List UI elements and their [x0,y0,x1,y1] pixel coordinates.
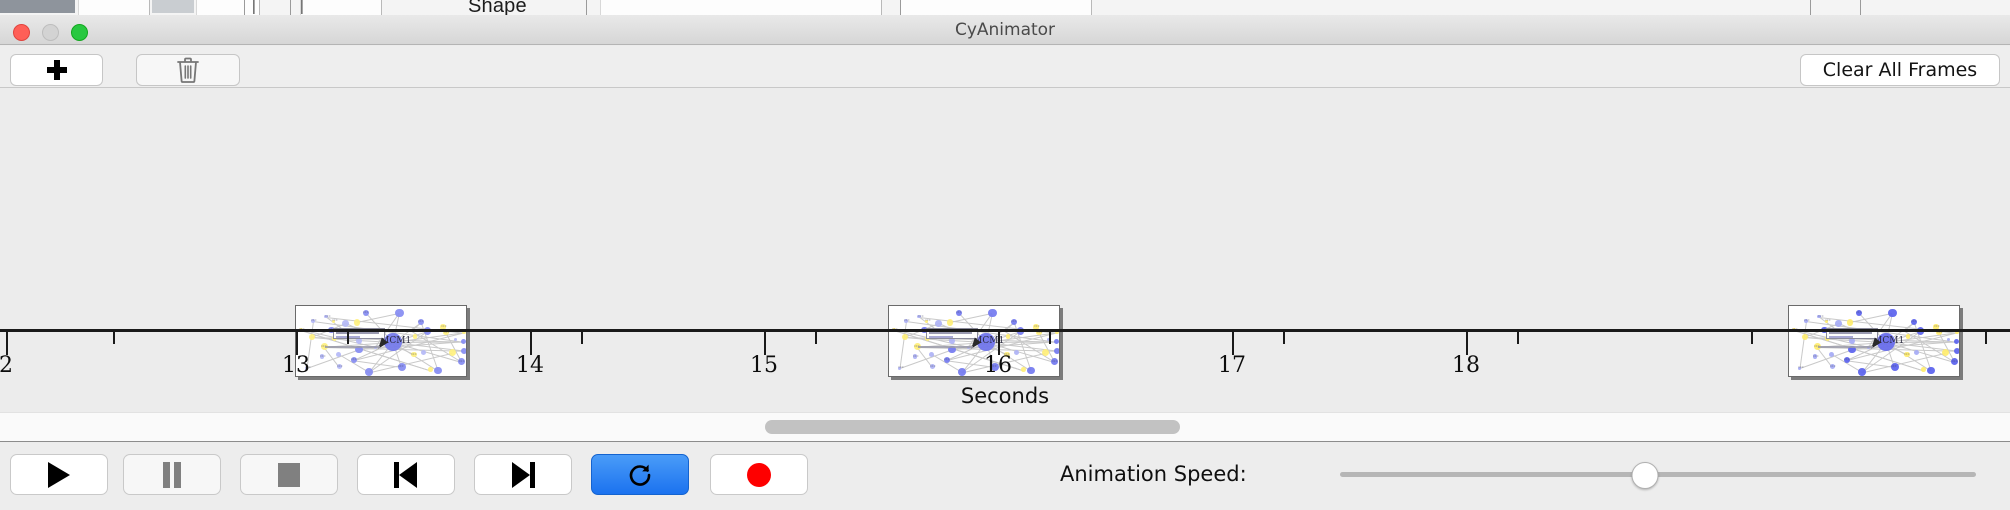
background-divider [1860,0,1861,15]
background-divider [900,0,901,15]
background-tab [196,0,260,15]
ruler-tick-minor [347,332,349,344]
ruler-tick-label: 17 [1218,353,1246,378]
title-bar: CyAnimator [0,15,2010,45]
network-node-label: ••• [1856,311,1862,315]
network-node [354,319,360,325]
animation-speed-label: Animation Speed: [1060,454,1247,495]
ruler-tick-label: 13 [282,353,310,378]
timeline-ruler: 2131415161718 Seconds [0,329,2010,411]
network-node [1835,320,1842,327]
timeline-panel[interactable]: ••••••••••••••••••••••••••••••••••••••••… [0,89,2010,411]
ruler-tick-major [764,332,766,355]
background-divider [1810,0,1811,15]
loop-icon [626,461,654,489]
background-divider [290,0,291,15]
ruler-tick-minor [1283,332,1285,344]
network-node-label: ••• [332,319,338,323]
background-gray-block [152,0,194,13]
network-node [947,319,953,325]
background-window-strip: | | Shape [0,0,2010,15]
ruler-tick-minor [815,332,817,344]
playback-controls: Animation Speed: [0,443,2010,510]
network-node [988,309,996,317]
network-node-label: ••• [1911,320,1917,324]
network-node-label: ••• [311,319,317,323]
ruler-tick-major [998,332,1000,355]
background-tab [600,0,882,15]
ruler-tick-label: 16 [984,353,1012,378]
network-node [1847,319,1853,325]
background-shape-label: Shape [468,0,527,15]
ruler-tick-minor [1985,332,1987,344]
play-icon [48,462,70,488]
plus-icon [47,60,67,80]
background-divider [244,0,245,15]
background-glyph: | [300,0,304,15]
background-divider [586,0,587,15]
axis-title: Seconds [0,384,2010,408]
skip-fwd-button[interactable] [474,454,572,495]
animation-speed-slider[interactable] [1340,454,1976,495]
ruler-baseline [0,329,2010,332]
record-icon [747,463,771,487]
skip-back-icon [394,462,418,488]
network-node [1888,309,1896,317]
network-node-label: ••• [1818,315,1824,319]
background-tab [900,0,1092,15]
ruler-tick-major [530,332,532,355]
play-button[interactable] [10,454,108,495]
network-node [342,320,349,327]
ruler-tick-minor [1049,332,1051,344]
background-tab [78,0,150,15]
network-node [395,309,403,317]
delete-frame-button[interactable] [136,54,240,86]
ruler-tick-major [1466,332,1468,355]
stop-button[interactable] [240,454,338,495]
background-glyph: | [252,0,256,15]
network-node-label: ••• [363,311,369,315]
ruler-tick-label: 14 [516,353,544,378]
network-node-label: ••• [325,315,331,319]
ruler-tick-minor [581,332,583,344]
cyanimator-window: | | Shape CyAnimator Clear All Frames ••… [0,0,2010,510]
pause-button[interactable] [123,454,221,495]
toolbar: Clear All Frames [0,46,2010,88]
pause-icon [161,462,183,488]
ruler-tick-minor [1751,332,1753,344]
skip-fwd-icon [511,462,535,488]
network-node-label: ••• [925,319,931,323]
record-button[interactable] [710,454,808,495]
network-node-label: ••• [1825,319,1831,323]
slider-thumb[interactable] [1632,462,1659,489]
network-node [935,320,942,327]
ruler-tick-major [6,332,8,355]
clear-all-frames-label: Clear All Frames [1823,59,1977,81]
ruler-tick-label: 2 [0,353,13,378]
network-node-label: ••• [918,315,924,319]
network-node-label: ••• [1804,319,1810,323]
ruler-tick-label: 18 [1452,353,1480,378]
stop-icon [278,463,300,487]
background-dark-block [0,0,75,13]
timeline-scrollbar-thumb[interactable] [765,420,1180,434]
ruler-tick-major [296,332,298,355]
background-tab [300,0,382,15]
clear-all-frames-button[interactable]: Clear All Frames [1800,54,2000,86]
skip-back-button[interactable] [357,454,455,495]
trash-icon [175,56,201,84]
ruler-tick-label: 15 [750,353,778,378]
window-title: CyAnimator [0,15,2010,45]
network-node-label: ••• [904,319,910,323]
timeline-scrollbar[interactable] [0,412,2010,442]
add-frame-button[interactable] [10,54,103,86]
ruler-tick-minor [1517,332,1519,344]
network-node-label: ••• [956,311,962,315]
loop-button[interactable] [591,454,689,495]
network-node-label: ••• [418,320,424,324]
ruler-tick-minor [113,332,115,344]
ruler-tick-major [1232,332,1234,355]
network-node-label: ••• [1011,320,1017,324]
